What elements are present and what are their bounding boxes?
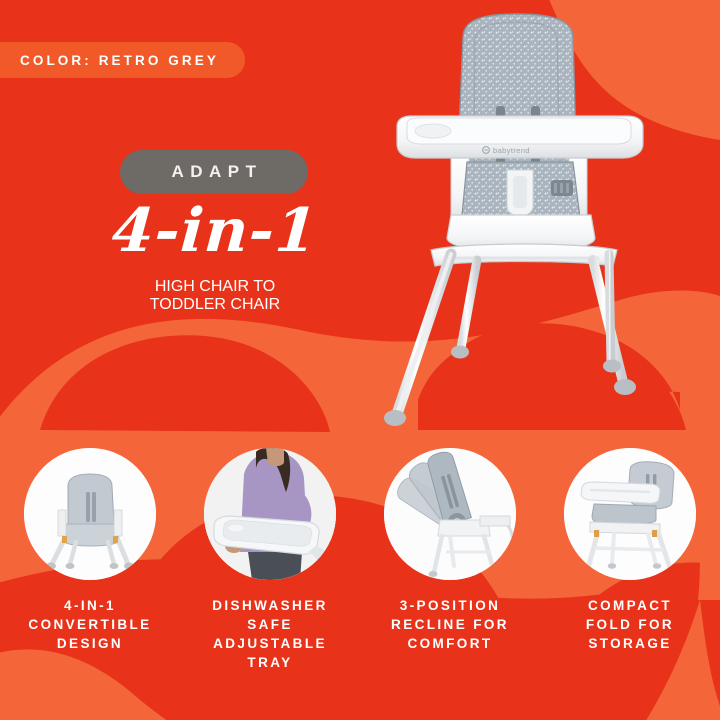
feature-image-recline xyxy=(384,448,516,580)
feature-label-recline: 3-POSITION RECLINE FOR COMFORT xyxy=(391,596,509,653)
adapt-badge: ADAPT xyxy=(120,150,308,194)
hero-product-image: babytrend xyxy=(355,10,705,450)
feature-list: 4-IN-1 CONVERTIBLE DESIGN xyxy=(0,448,720,698)
feature-label-convertible: 4-IN-1 CONVERTIBLE DESIGN xyxy=(28,596,151,653)
product-marketing-banner: COLOR: RETRO GREY ADAPT 4-in-1 HIGH CHAI… xyxy=(0,0,720,720)
chair-legs xyxy=(397,254,623,414)
feature-label-dishwasher-tray: DISHWASHER SAFE ADJUSTABLE TRAY xyxy=(212,596,328,672)
feature-item-compact-fold: COMPACT FOLD FOR STORAGE xyxy=(540,448,720,698)
color-badge: COLOR: RETRO GREY xyxy=(0,42,245,78)
person-holding-tray-illustration xyxy=(204,448,336,580)
tray-brand-logo: babytrend xyxy=(493,146,530,155)
feature-item-convertible: 4-IN-1 CONVERTIBLE DESIGN xyxy=(0,448,180,698)
feature-image-compact-fold xyxy=(564,448,696,580)
feature-image-dishwasher-tray xyxy=(204,448,336,580)
feature-image-convertible xyxy=(24,448,156,580)
recline-tray xyxy=(480,516,510,526)
feature-item-recline: 3-POSITION RECLINE FOR COMFORT xyxy=(360,448,540,698)
tray-cup-holder xyxy=(415,124,451,138)
feature-item-dishwasher-tray: DISHWASHER SAFE ADJUSTABLE TRAY xyxy=(180,448,360,698)
tray: babytrend xyxy=(397,116,643,158)
feature-label-compact-fold: COMPACT FOLD FOR STORAGE xyxy=(586,596,674,653)
